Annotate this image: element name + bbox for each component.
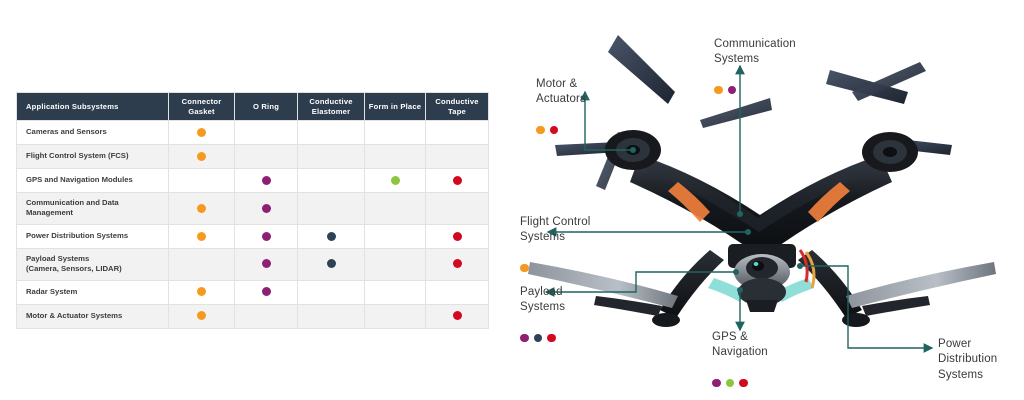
table-row: Communication and Data Management [17, 193, 489, 225]
matrix-cell-5 [426, 280, 489, 304]
matrix-dot-red [453, 232, 462, 241]
table-row: Cameras and Sensors [17, 121, 489, 145]
materials-matrix-table: Application Subsystems Connector Gasket … [16, 92, 488, 329]
subsystem-name-cell: Motor & Actuator Systems [17, 304, 169, 328]
matrix-cell-2 [235, 145, 298, 169]
matrix-cell-1 [169, 224, 235, 248]
matrix-cell-4 [365, 304, 426, 328]
matrix-table: Application Subsystems Connector Gasket … [16, 92, 489, 329]
matrix-cell-5 [426, 169, 489, 193]
column-header-o-ring: O Ring [235, 93, 298, 121]
matrix-dot-red [453, 259, 462, 268]
matrix-cell-3 [298, 145, 365, 169]
legend-dot-green [726, 379, 735, 388]
matrix-cell-2 [235, 169, 298, 193]
callout-label-power-distribution-systems: Power Distribution Systems [938, 337, 997, 383]
page-root: Application Subsystems Connector Gasket … [0, 0, 1024, 400]
callout-dots-motor-actuators [536, 126, 586, 135]
legend-dot-red [550, 126, 559, 135]
matrix-cell-3 [298, 193, 365, 225]
matrix-cell-4 [365, 121, 426, 145]
matrix-cell-4 [365, 224, 426, 248]
table-row: GPS and Navigation Modules [17, 169, 489, 193]
matrix-dot-purple [262, 259, 271, 268]
callout-label-payload-systems: Payload Systems [520, 285, 565, 315]
callout-label-flight-control-systems: Flight Control Systems [520, 215, 591, 245]
matrix-cell-2 [235, 121, 298, 145]
matrix-cell-2 [235, 248, 298, 280]
legend-dot-red [547, 334, 556, 343]
matrix-cell-1 [169, 121, 235, 145]
matrix-cell-5 [426, 248, 489, 280]
matrix-cell-5 [426, 145, 489, 169]
matrix-cell-1 [169, 169, 235, 193]
callout-motor-actuators: Motor & Actuators [536, 62, 586, 149]
callout-power-distribution-systems: Power Distribution Systems [938, 322, 997, 400]
callout-label-motor-actuators: Motor & Actuators [536, 77, 586, 107]
column-header-conductive-elastomer: Conductive Elastomer [298, 93, 365, 121]
matrix-cell-4 [365, 248, 426, 280]
legend-dot-navy [534, 334, 543, 343]
table-header-row: Application Subsystems Connector Gasket … [17, 93, 489, 121]
matrix-cell-5 [426, 224, 489, 248]
matrix-cell-2 [235, 224, 298, 248]
legend-dot-purple [712, 379, 721, 388]
subsystem-name-cell: GPS and Navigation Modules [17, 169, 169, 193]
leader-power-distribution-systems [800, 266, 932, 348]
table-row: Motor & Actuator Systems [17, 304, 489, 328]
table-body: Cameras and SensorsFlight Control System… [17, 121, 489, 329]
matrix-dot-orange [197, 128, 206, 137]
matrix-dot-red [453, 176, 462, 185]
table-row: Power Distribution Systems [17, 224, 489, 248]
matrix-dot-purple [262, 176, 271, 185]
matrix-dot-navy [327, 232, 336, 241]
matrix-cell-3 [298, 121, 365, 145]
column-header-connector-gasket: Connector Gasket [169, 93, 235, 121]
matrix-cell-2 [235, 280, 298, 304]
matrix-dot-orange [197, 152, 206, 161]
matrix-cell-4 [365, 145, 426, 169]
legend-dot-orange [536, 126, 545, 135]
column-header-subsystems: Application Subsystems [17, 93, 169, 121]
legend-dot-purple [728, 86, 737, 95]
matrix-dot-navy [327, 259, 336, 268]
subsystem-name-cell: Radar System [17, 280, 169, 304]
leader-anchors [630, 147, 803, 293]
subsystem-name-cell: Payload Systems(Camera, Sensors, LIDAR) [17, 248, 169, 280]
matrix-cell-1 [169, 304, 235, 328]
matrix-cell-1 [169, 193, 235, 225]
matrix-dot-purple [262, 204, 271, 213]
matrix-dot-purple [262, 287, 271, 296]
matrix-cell-5 [426, 121, 489, 145]
matrix-cell-3 [298, 304, 365, 328]
subsystem-name-cell: Flight Control System (FCS) [17, 145, 169, 169]
callout-payload-systems: Payload Systems [520, 270, 565, 357]
column-header-form-in-place: Form in Place [365, 93, 426, 121]
matrix-dot-orange [197, 311, 206, 320]
table-row: Payload Systems(Camera, Sensors, LIDAR) [17, 248, 489, 280]
matrix-cell-3 [298, 248, 365, 280]
matrix-cell-3 [298, 280, 365, 304]
matrix-dot-purple [262, 232, 271, 241]
drone-diagram: Motor & Actuators Communication Systems … [500, 0, 1024, 400]
matrix-cell-5 [426, 304, 489, 328]
table-row: Radar System [17, 280, 489, 304]
legend-dot-orange [714, 86, 723, 95]
matrix-cell-3 [298, 224, 365, 248]
callout-communication-systems: Communication Systems [714, 22, 796, 109]
matrix-cell-4 [365, 169, 426, 193]
column-header-conductive-tape: Conductive Tape [426, 93, 489, 121]
table-header: Application Subsystems Connector Gasket … [17, 93, 489, 121]
leader-motor-actuators [585, 92, 633, 150]
subsystem-name-cell: Communication and Data Management [17, 193, 169, 225]
callout-dots-payload-systems [520, 334, 565, 343]
callout-dots-gps-navigation [712, 379, 768, 388]
callout-dots-communication-systems [714, 86, 796, 95]
matrix-cell-5 [426, 193, 489, 225]
matrix-cell-1 [169, 248, 235, 280]
matrix-cell-1 [169, 280, 235, 304]
matrix-cell-3 [298, 169, 365, 193]
matrix-cell-2 [235, 304, 298, 328]
matrix-dot-orange [197, 287, 206, 296]
matrix-dot-orange [197, 204, 206, 213]
callout-label-gps-navigation: GPS & Navigation [712, 330, 768, 360]
matrix-cell-4 [365, 193, 426, 225]
callout-label-communication-systems: Communication Systems [714, 37, 796, 67]
matrix-dot-orange [197, 232, 206, 241]
matrix-cell-2 [235, 193, 298, 225]
legend-dot-red [739, 379, 748, 388]
callout-gps-navigation: GPS & Navigation [712, 315, 768, 400]
matrix-cell-1 [169, 145, 235, 169]
matrix-dot-red [453, 311, 462, 320]
matrix-cell-4 [365, 280, 426, 304]
subsystem-name-cell: Power Distribution Systems [17, 224, 169, 248]
legend-dot-purple [520, 334, 529, 343]
table-row: Flight Control System (FCS) [17, 145, 489, 169]
subsystem-name-cell: Cameras and Sensors [17, 121, 169, 145]
matrix-dot-green [391, 176, 400, 185]
